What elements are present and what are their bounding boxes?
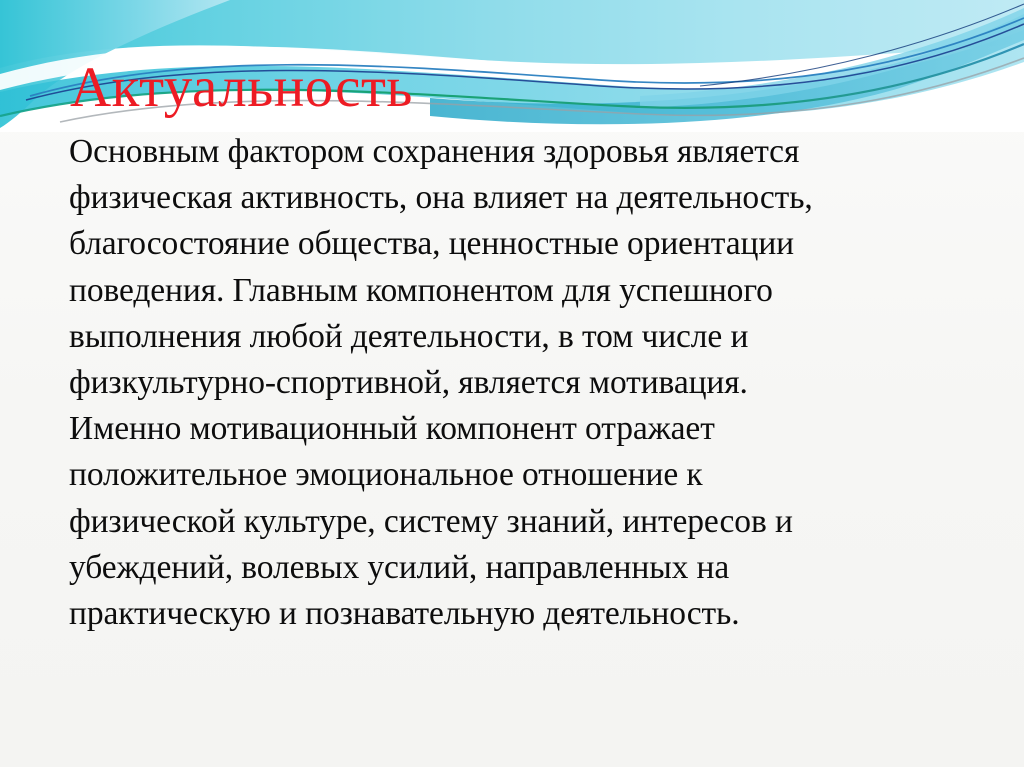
body-line: практическую и познавательную деятельнос…	[69, 591, 959, 637]
body-line: выполнения любой деятельности, в том чис…	[69, 314, 959, 360]
body-line: поведения. Главным компонентом для успеш…	[69, 268, 959, 314]
body-line: физической культуре, систему знаний, инт…	[69, 499, 959, 545]
body-line: Основным фактором сохранения здоровья яв…	[69, 129, 959, 175]
body-line: Именно мотивационный компонент отражает	[69, 406, 959, 452]
body-line: благосостояние общества, ценностные орие…	[69, 221, 959, 267]
body-line: положительное эмоциональное отношение к	[69, 452, 959, 498]
slide-canvas: Актуальность Основным фактором сохранени…	[0, 0, 1024, 767]
body-line: физическая активность, она влияет на дея…	[69, 175, 959, 221]
title-block: Актуальность	[70, 57, 970, 123]
body-line: убеждений, волевых усилий, направленных …	[69, 545, 959, 591]
body-text-block: Основным фактором сохранения здоровья яв…	[69, 129, 959, 637]
page-title: Актуальность	[70, 57, 970, 119]
body-line: физкультурно-спортивной, является мотива…	[69, 360, 959, 406]
